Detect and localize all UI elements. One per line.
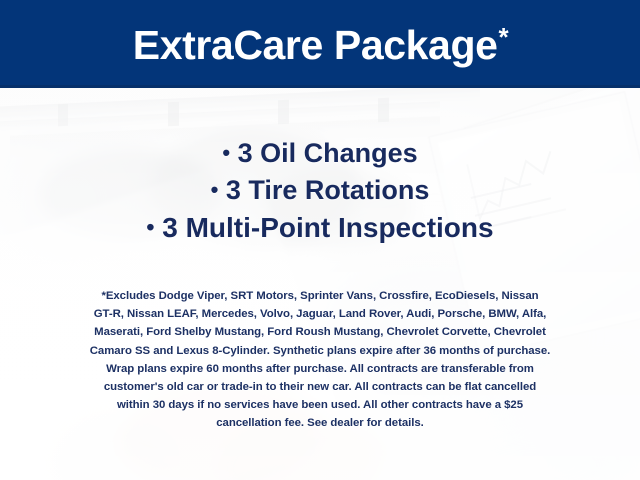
page-title-text: ExtraCare Package <box>133 22 498 68</box>
disclaimer-line: customer's old car or trade-in to their … <box>22 378 618 396</box>
disclaimer-line: GT-R, Nissan LEAF, Mercedes, Volvo, Jagu… <box>22 305 618 323</box>
bullet-icon: • <box>211 177 219 202</box>
disclaimer: *Excludes Dodge Viper, SRT Motors, Sprin… <box>22 287 618 433</box>
bullet-icon: • <box>146 214 154 240</box>
benefits-list: • 3 Oil Changes • 3 Tire Rotations • 3 M… <box>0 140 640 242</box>
header-band: ExtraCare Package* <box>0 0 640 88</box>
disclaimer-line: Camaro SS and Lexus 8-Cylinder. Syntheti… <box>22 342 618 360</box>
bullet-icon: • <box>222 140 230 165</box>
list-item: • 3 Oil Changes <box>0 140 640 167</box>
disclaimer-line: cancellation fee. See dealer for details… <box>22 414 618 432</box>
list-item: • 3 Tire Rotations <box>0 177 640 204</box>
disclaimer-line: within 30 days if no services have been … <box>22 396 618 414</box>
extracare-package-ad: ExtraCare Package* • 3 Oil Changes • 3 T… <box>0 0 640 480</box>
title-asterisk: * <box>499 22 509 52</box>
list-item-label: 3 Oil Changes <box>238 138 418 168</box>
list-item-label: 3 Tire Rotations <box>226 175 430 205</box>
list-item-label: 3 Multi-Point Inspections <box>162 212 493 243</box>
disclaimer-line: *Excludes Dodge Viper, SRT Motors, Sprin… <box>22 287 618 305</box>
page-title: ExtraCare Package* <box>133 25 507 66</box>
list-item: • 3 Multi-Point Inspections <box>0 214 640 242</box>
disclaimer-line: Maserati, Ford Shelby Mustang, Ford Rous… <box>22 323 618 341</box>
disclaimer-line: Wrap plans expire 60 months after purcha… <box>22 360 618 378</box>
